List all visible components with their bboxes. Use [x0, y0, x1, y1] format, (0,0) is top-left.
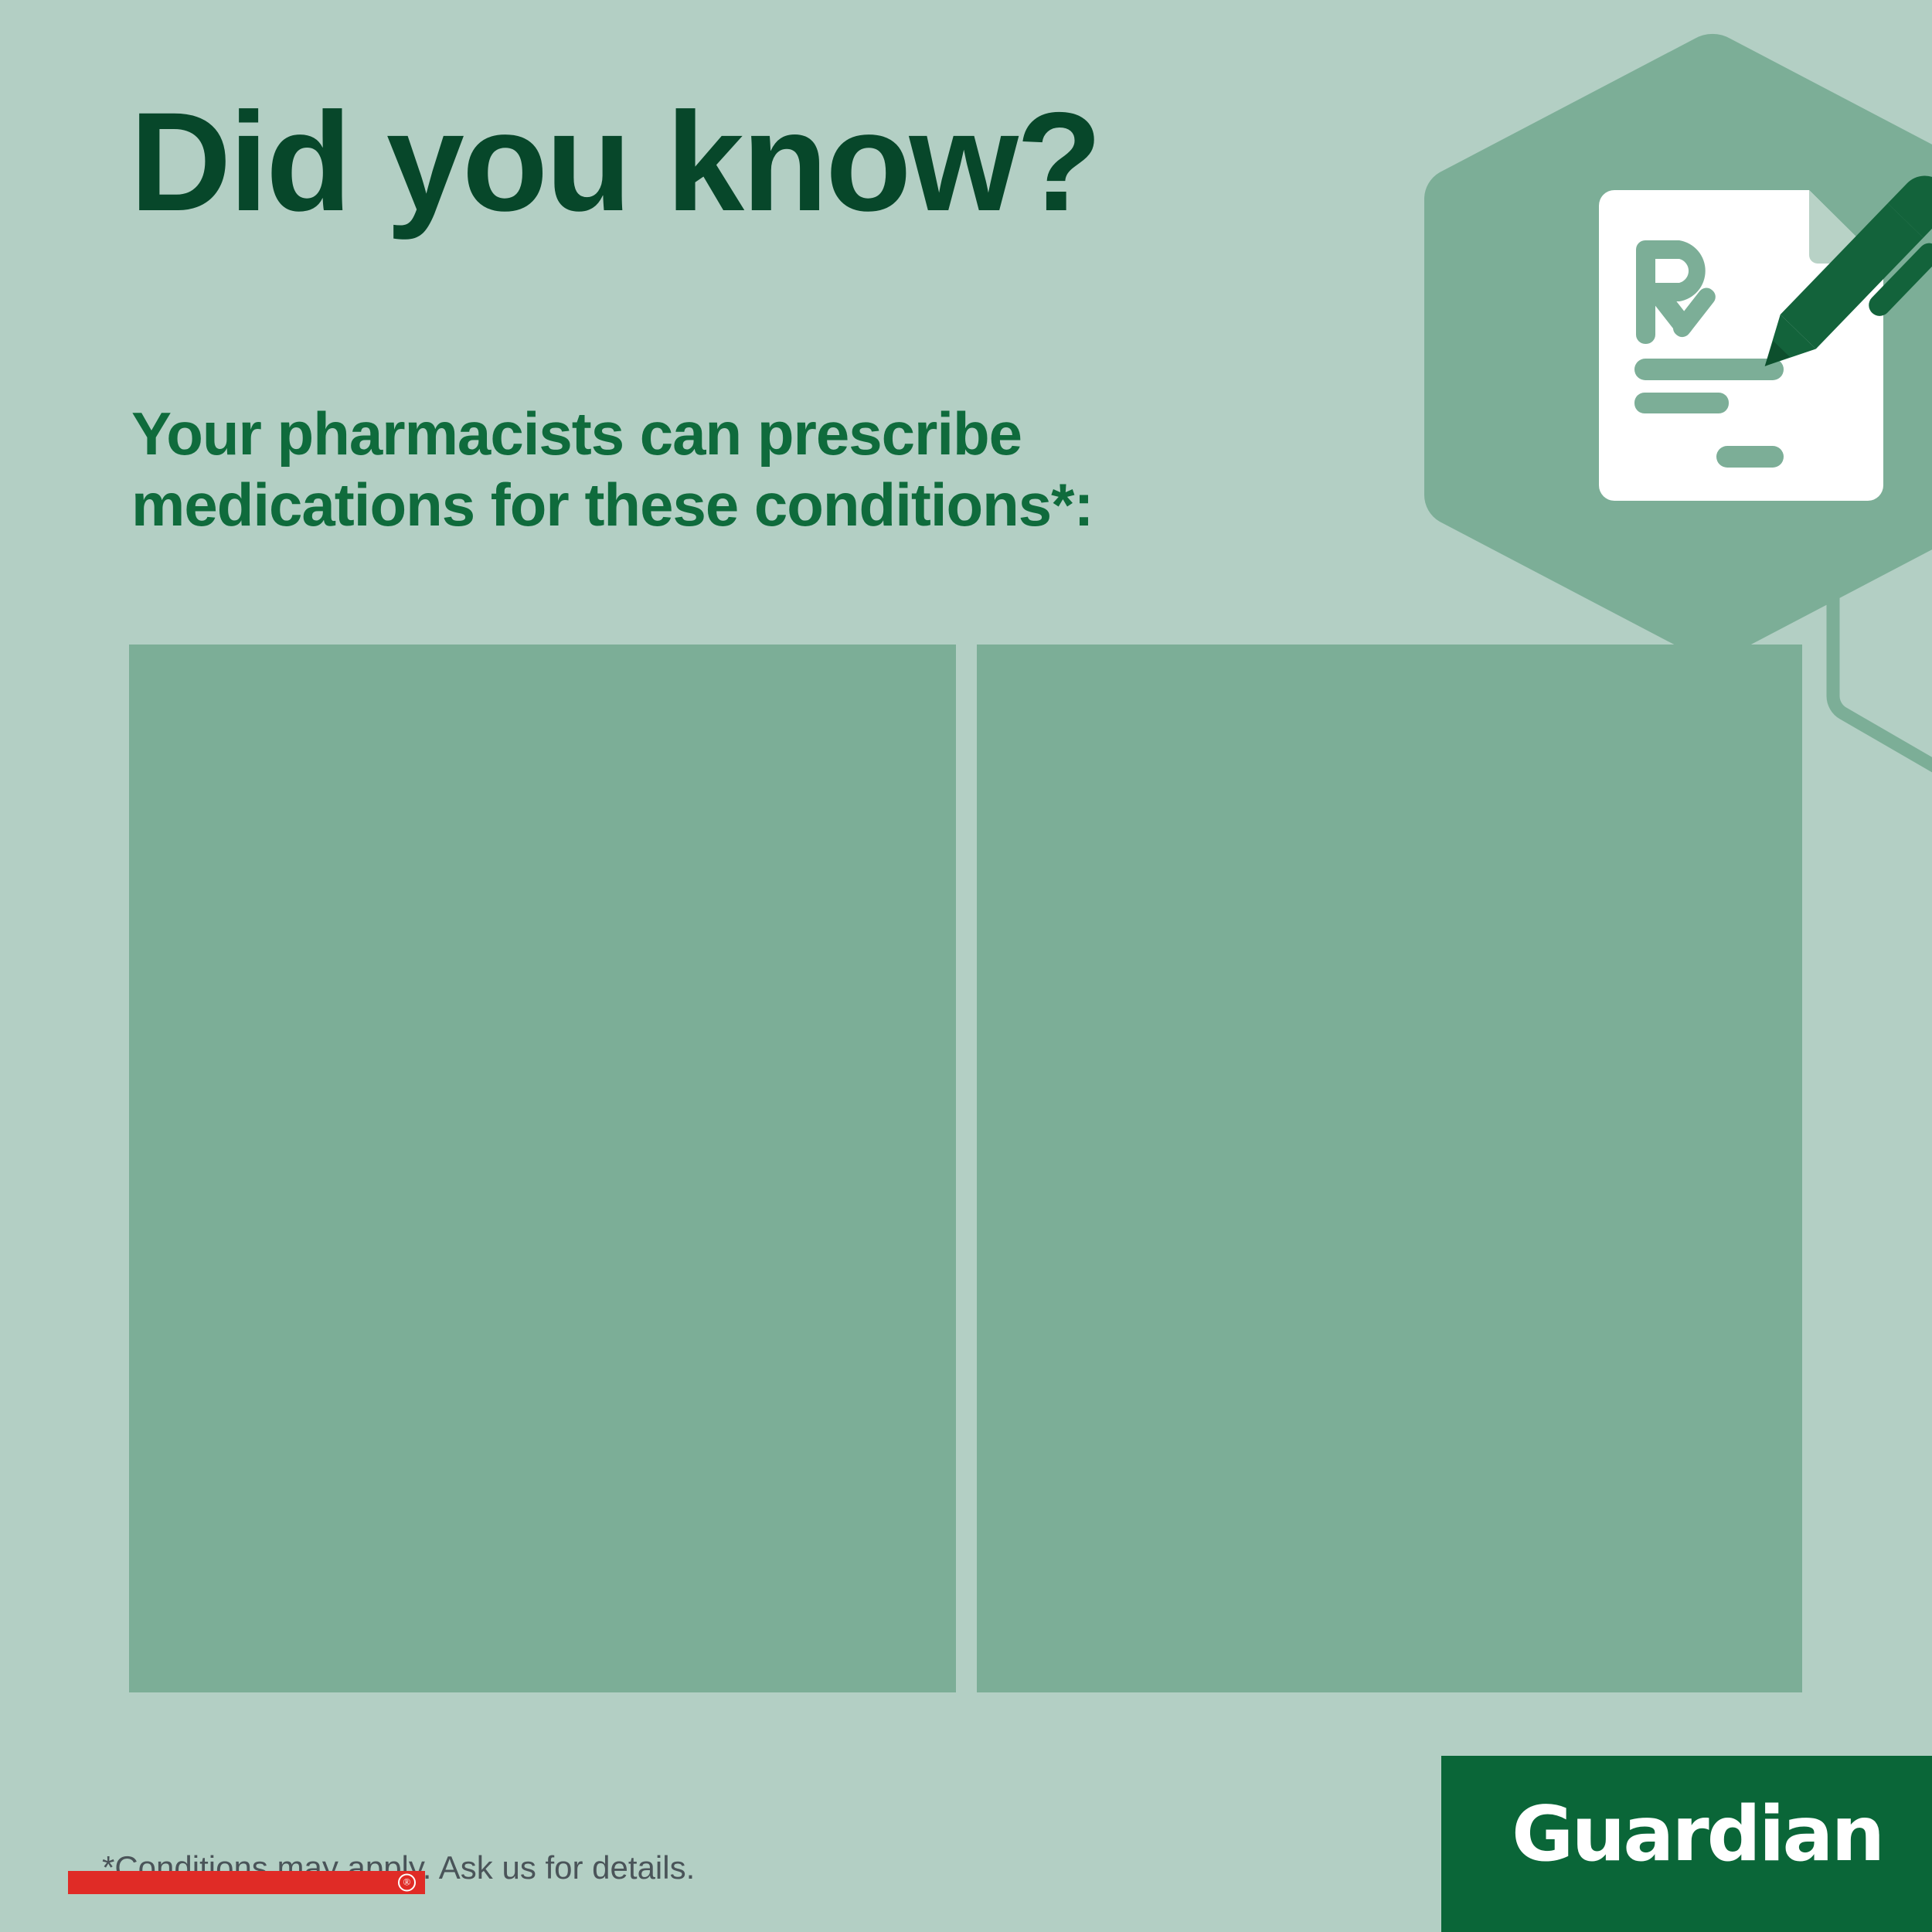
guardian-wordmark: Guardian [1512, 1804, 1867, 1866]
promo-poster: Did you know? Your pharmacists can presc… [0, 0, 1932, 1932]
content-panel-right [977, 645, 1802, 1692]
pencil-icon [1747, 165, 1932, 401]
guardian-logo: Guardian [1441, 1756, 1932, 1932]
page-title: Did you know? [130, 91, 1289, 232]
hexagon-outline-icon [1833, 446, 1932, 793]
registered-trademark-icon: ® [398, 1874, 416, 1892]
guardian-logo-rule: ® [68, 1871, 425, 1894]
content-panel-left [129, 645, 956, 1692]
rx-document-icon [1599, 188, 1890, 501]
content-panels [129, 645, 1802, 1692]
hexagon-badge [1424, 34, 1932, 660]
page-subtitle: Your pharmacists can prescribe medicatio… [131, 398, 1275, 540]
